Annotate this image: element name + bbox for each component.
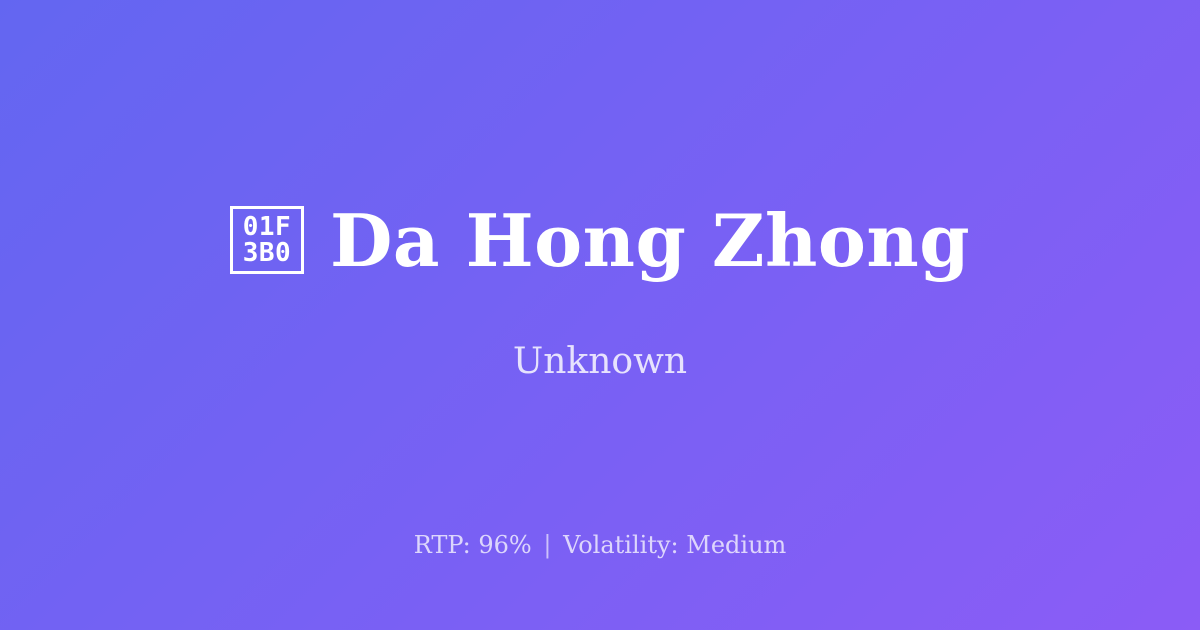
slot-machine-icon-codepoint-bottom: 3B0 — [243, 240, 291, 267]
hero-block: 01F 3B0 Da Hong Zhong Unknown — [0, 201, 1200, 383]
volatility-value: Volatility: Medium — [563, 531, 786, 559]
rtp-value: RTP: 96% — [414, 531, 532, 559]
meta-separator: | — [539, 531, 555, 559]
game-og-card: 01F 3B0 Da Hong Zhong Unknown RTP: 96% |… — [0, 0, 1200, 630]
title-row: 01F 3B0 Da Hong Zhong — [0, 201, 1200, 280]
page-subtitle: Unknown — [513, 340, 687, 383]
game-meta-line: RTP: 96% | Volatility: Medium — [0, 531, 1200, 560]
slot-machine-icon: 01F 3B0 — [230, 206, 304, 274]
page-title: Da Hong Zhong — [330, 201, 970, 280]
slot-machine-icon-codepoint-top: 01F — [243, 214, 291, 241]
